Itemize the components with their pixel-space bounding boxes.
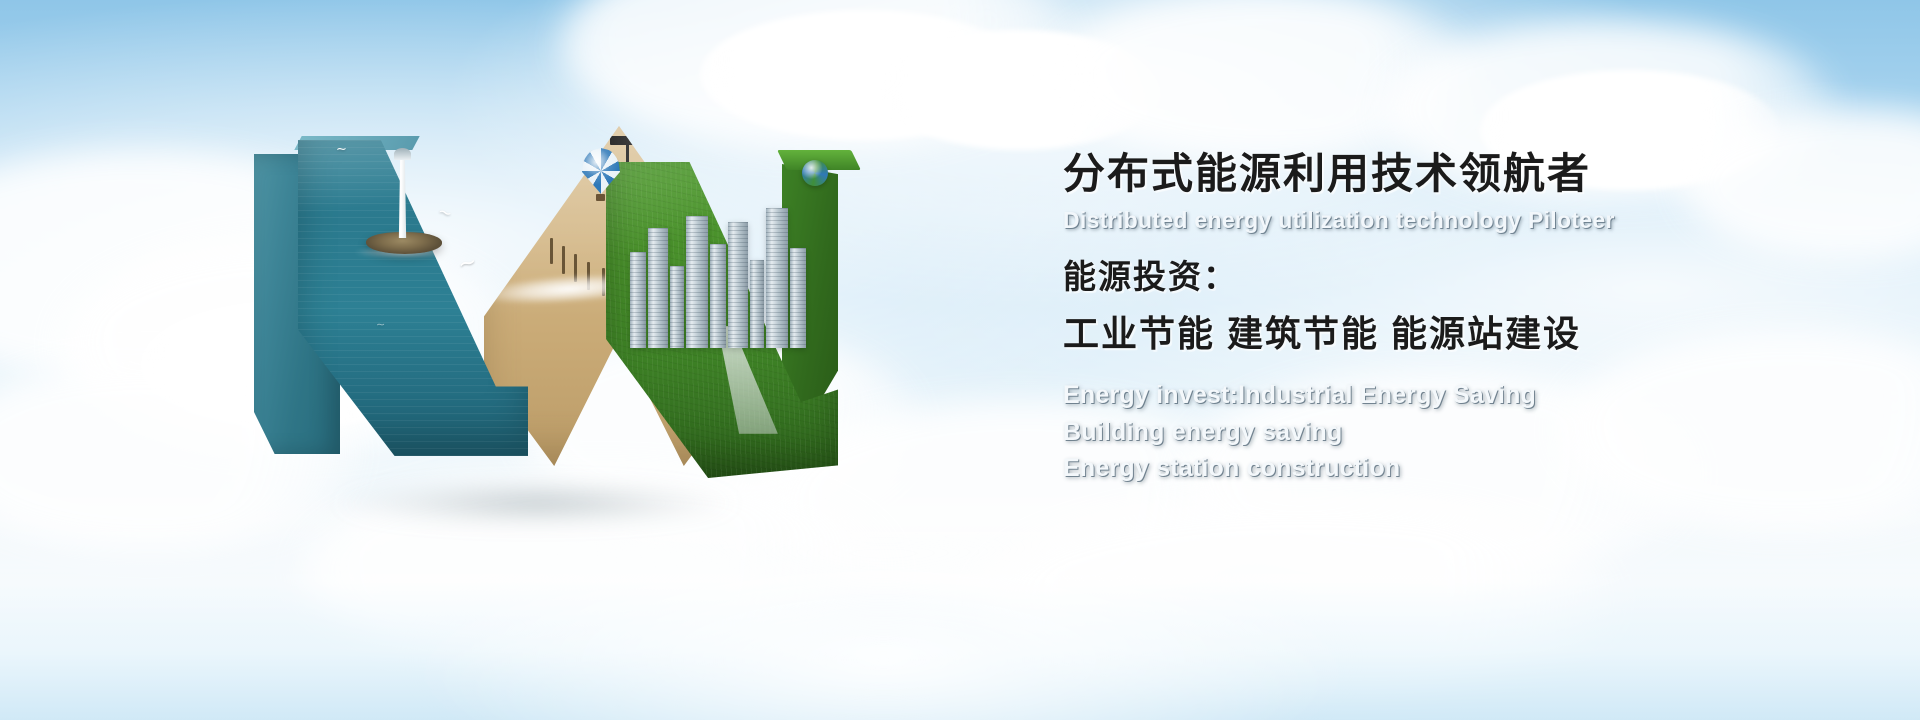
seabird-icon: ∼ [436,202,455,223]
services-en-list: Energy invest:Industrial Energy Saving B… [1063,377,1803,487]
bottom-glow-layer [269,540,1498,720]
banner-copy: 分布式能源利用技术领航者 Distributed energy utilizat… [1063,150,1803,487]
seabird-icon: ∼ [336,142,347,155]
section-label-cn: 能源投资： [1063,257,1803,297]
skyscraper-icon [750,260,764,348]
skyscraper-icon [670,266,684,348]
skyscraper-icon [630,252,646,348]
seabird-icon: ∼ [456,250,479,276]
skyscraper-icon [766,208,788,348]
page-subtitle-en: Distributed energy utilization technolog… [1063,207,1803,235]
lighthouse-lamp-icon [394,148,411,160]
signpost-arm-icon [610,136,652,145]
globe-icon [802,160,828,186]
skyscraper-icon [710,244,726,348]
fence-post-icon [562,246,565,274]
list-item: Building energy saving [1063,414,1803,451]
list-item: Energy invest:Industrial Energy Saving [1063,377,1803,414]
skyscraper-icon [728,222,748,348]
cloud-icon [1050,0,1480,160]
cloud-icon [880,30,1160,150]
skyscraper-icon [686,216,708,348]
seabird-icon: ∼ [376,320,385,331]
services-cn: 工业节能 建筑节能 能源站建设 [1063,312,1803,355]
list-item: Energy station construction [1063,450,1803,487]
cloud-icon [980,500,1620,700]
artwork-ground-shadow [266,474,806,532]
hero-banner: ∼ ∼ ∼ ∼ 分布式能源利用技术领航者 Distributed energy … [0,0,1920,720]
balloon-basket-icon [596,194,605,201]
fence-post-icon [550,238,553,264]
page-title: 分布式能源利用技术领航者 [1063,150,1803,197]
city-skyline [626,198,812,348]
skyscraper-icon [648,228,668,348]
skyscraper-icon [790,248,806,348]
w-letter-artwork: ∼ ∼ ∼ ∼ [226,120,846,510]
